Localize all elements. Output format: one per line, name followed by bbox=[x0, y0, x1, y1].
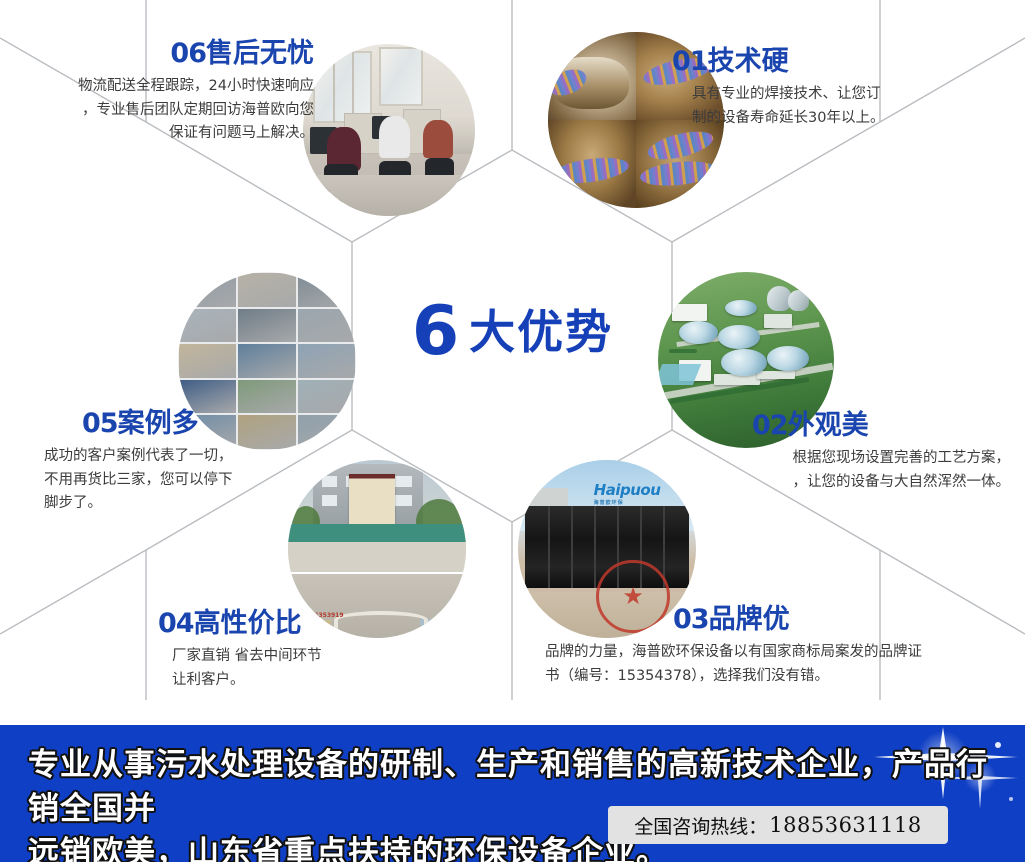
advantage-03-block: 03品牌优 品牌的力量，海普欧环保设备以有国家商标局案发的品牌证 书（编号：15… bbox=[545, 606, 1005, 688]
advantage-02-heading: 02外观美 bbox=[752, 412, 1010, 440]
hotline-number: 18853631118 bbox=[769, 813, 921, 837]
case-photo-cell bbox=[238, 380, 295, 413]
advantage-03-heading: 03品牌优 bbox=[673, 606, 1005, 634]
advantage-05-heading: 05案例多 bbox=[82, 410, 344, 438]
haipuou-watermark: Haipuou 海普欧环保 bbox=[594, 481, 661, 506]
advantage-04-heading: 04高性价比 bbox=[158, 610, 478, 638]
advantage-01-body: 具有专业的焊接技术、让您订 制的设备寿命延长30年以上。 bbox=[692, 83, 1002, 130]
center-title: 6大优势 bbox=[0, 296, 1025, 366]
hotline-label: 全国咨询热线： bbox=[634, 812, 767, 839]
infographic-canvas: Haipuou 海普欧环保 ★ bbox=[0, 0, 1025, 862]
advantage-06-block: 06售后无忧 物流配送全程跟踪，24小时快速响应 ，专业售后团队定期回访海普欧向… bbox=[14, 40, 314, 146]
center-number: 6 bbox=[412, 292, 459, 371]
outer-edge-7 bbox=[0, 550, 146, 634]
advantage-01-block: 01技术硬 具有专业的焊接技术、让您订 制的设备寿命延长30年以上。 bbox=[672, 48, 1002, 130]
advantage-06-body: 物流配送全程跟踪，24小时快速响应 ，专业售后团队定期回访海普欧向您 保证有问题… bbox=[14, 75, 314, 145]
advantage-06-heading: 06售后无忧 bbox=[14, 40, 314, 68]
advantage-05-block: 05案例多 成功的客户案例代表了一切， 不用再货比三家，您可以停下 脚步了。 bbox=[44, 410, 344, 516]
office-staff-photo bbox=[303, 44, 475, 216]
advantage-05-body: 成功的客户案例代表了一切， 不用再货比三家，您可以停下 脚步了。 bbox=[44, 445, 344, 515]
advantage-04-body: 厂家直销 省去中间环节 让利客户。 bbox=[172, 645, 478, 692]
advantage-02-block: 02外观美 根据您现场设置完善的工艺方案， ，让您的设备与大自然浑然一体。 bbox=[690, 412, 1010, 494]
advantage-01-heading: 01技术硬 bbox=[672, 48, 1002, 76]
banner-text: 专业从事污水处理设备的研制、生产和销售的高新技术企业，产品行销全国并 远销欧美，… bbox=[28, 743, 1005, 862]
center-label: 大优势 bbox=[469, 305, 613, 359]
advantage-03-body: 品牌的力量，海普欧环保设备以有国家商标局案发的品牌证 书（编号：15354378… bbox=[545, 641, 1005, 688]
advantage-02-body: 根据您现场设置完善的工艺方案， ，让您的设备与大自然浑然一体。 bbox=[690, 447, 1010, 494]
case-photo-cell bbox=[298, 380, 355, 413]
advantage-04-block: 04高性价比 厂家直销 省去中间环节 让利客户。 bbox=[158, 610, 478, 692]
hotline-box[interactable]: 全国咨询热线：18853631118 bbox=[608, 806, 948, 844]
